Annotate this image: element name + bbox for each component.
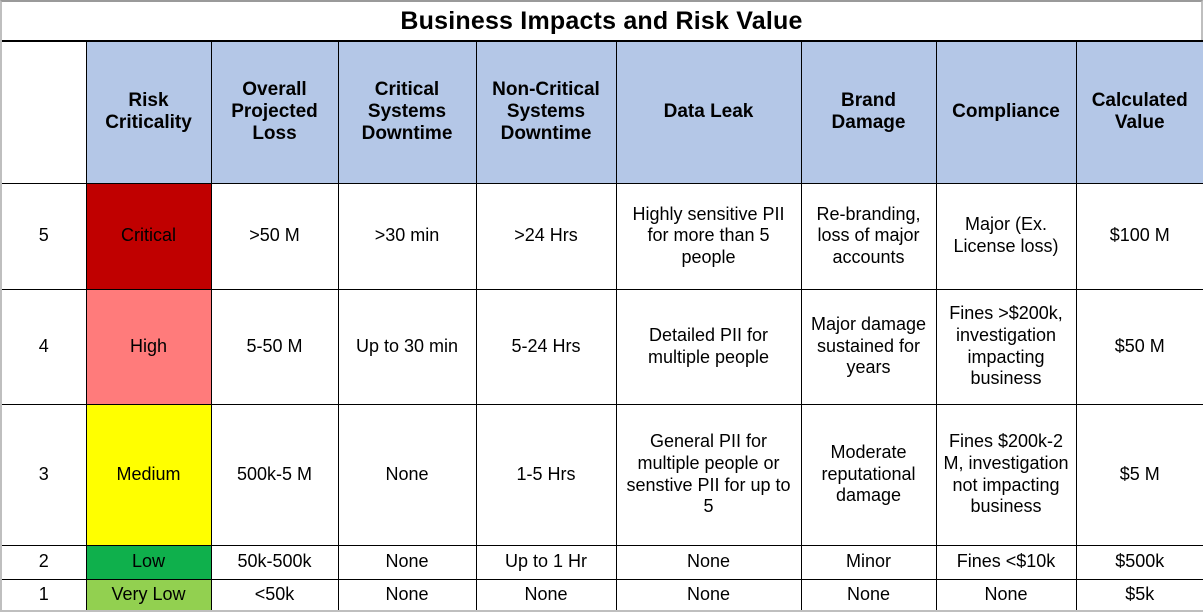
risk-criticality-cell: High [86, 289, 211, 404]
header-cell-data-leak: Data Leak [616, 41, 801, 183]
risk-criticality-cell: Medium [86, 404, 211, 545]
header-cell-critical-systems-downtime: Critical Systems Downtime [338, 41, 476, 183]
brand-damage-cell: Re-branding, loss of major accounts [801, 183, 936, 289]
overall-projected-loss-cell: 50k-500k [211, 545, 338, 579]
brand-damage-cell: None [801, 579, 936, 611]
header-cell-overall-projected-loss: Overall Projected Loss [211, 41, 338, 183]
critical-systems-downtime-cell: Up to 30 min [338, 289, 476, 404]
compliance-cell: Fines $200k-2 M, investigation not impac… [936, 404, 1076, 545]
overall-projected-loss-cell: <50k [211, 579, 338, 611]
page-title: Business Impacts and Risk Value [400, 9, 802, 34]
header-cell-compliance: Compliance [936, 41, 1076, 183]
non-critical-systems-downtime-cell: 5-24 Hrs [476, 289, 616, 404]
compliance-cell: Fines <$10k [936, 545, 1076, 579]
compliance-cell: Major (Ex. License loss) [936, 183, 1076, 289]
header-cell-risk-criticality: Risk Criticality [86, 41, 211, 183]
non-critical-systems-downtime-cell: 1-5 Hrs [476, 404, 616, 545]
table-header: Risk Criticality Overall Projected Loss … [1, 41, 1203, 183]
table-row: 4 High 5-50 M Up to 30 min 5-24 Hrs Deta… [1, 289, 1203, 404]
brand-damage-cell: Minor [801, 545, 936, 579]
row-level: 3 [1, 404, 86, 545]
data-leak-cell: Highly sensitive PII for more than 5 peo… [616, 183, 801, 289]
risk-criticality-cell: Low [86, 545, 211, 579]
table-row: 2 Low 50k-500k None Up to 1 Hr None Mino… [1, 545, 1203, 579]
row-level: 2 [1, 545, 86, 579]
compliance-cell: Fines >$200k, investigation impacting bu… [936, 289, 1076, 404]
critical-systems-downtime-cell: None [338, 545, 476, 579]
data-leak-cell: None [616, 579, 801, 611]
brand-damage-cell: Major damage sustained for years [801, 289, 936, 404]
risk-matrix-sheet: Business Impacts and Risk Value Risk Cri… [0, 0, 1203, 612]
overall-projected-loss-cell: >50 M [211, 183, 338, 289]
calculated-value-cell: $5 M [1076, 404, 1203, 545]
header-cell-non-critical-systems-downtime: Non-Critical Systems Downtime [476, 41, 616, 183]
non-critical-systems-downtime-cell: >24 Hrs [476, 183, 616, 289]
critical-systems-downtime-cell: None [338, 404, 476, 545]
calculated-value-cell: $50 M [1076, 289, 1203, 404]
data-leak-cell: None [616, 545, 801, 579]
calculated-value-cell: $5k [1076, 579, 1203, 611]
non-critical-systems-downtime-cell: None [476, 579, 616, 611]
critical-systems-downtime-cell: None [338, 579, 476, 611]
risk-table: Risk Criticality Overall Projected Loss … [0, 40, 1203, 612]
compliance-cell: None [936, 579, 1076, 611]
non-critical-systems-downtime-cell: Up to 1 Hr [476, 545, 616, 579]
header-cell-index [1, 41, 86, 183]
table-row: 5 Critical >50 M >30 min >24 Hrs Highly … [1, 183, 1203, 289]
header-row: Risk Criticality Overall Projected Loss … [1, 41, 1203, 183]
brand-damage-cell: Moderate reputational damage [801, 404, 936, 545]
data-leak-cell: General PII for multiple people or senst… [616, 404, 801, 545]
table-body: 5 Critical >50 M >30 min >24 Hrs Highly … [1, 183, 1203, 611]
calculated-value-cell: $100 M [1076, 183, 1203, 289]
risk-criticality-cell: Very Low [86, 579, 211, 611]
overall-projected-loss-cell: 5-50 M [211, 289, 338, 404]
header-cell-brand-damage: Brand Damage [801, 41, 936, 183]
title-bar: Business Impacts and Risk Value [0, 0, 1203, 40]
row-level: 4 [1, 289, 86, 404]
table-row: 3 Medium 500k-5 M None 1-5 Hrs General P… [1, 404, 1203, 545]
table-row: 1 Very Low <50k None None None None None… [1, 579, 1203, 611]
row-level: 5 [1, 183, 86, 289]
overall-projected-loss-cell: 500k-5 M [211, 404, 338, 545]
header-cell-calculated-value: Calculated Value [1076, 41, 1203, 183]
calculated-value-cell: $500k [1076, 545, 1203, 579]
risk-criticality-cell: Critical [86, 183, 211, 289]
data-leak-cell: Detailed PII for multiple people [616, 289, 801, 404]
critical-systems-downtime-cell: >30 min [338, 183, 476, 289]
row-level: 1 [1, 579, 86, 611]
